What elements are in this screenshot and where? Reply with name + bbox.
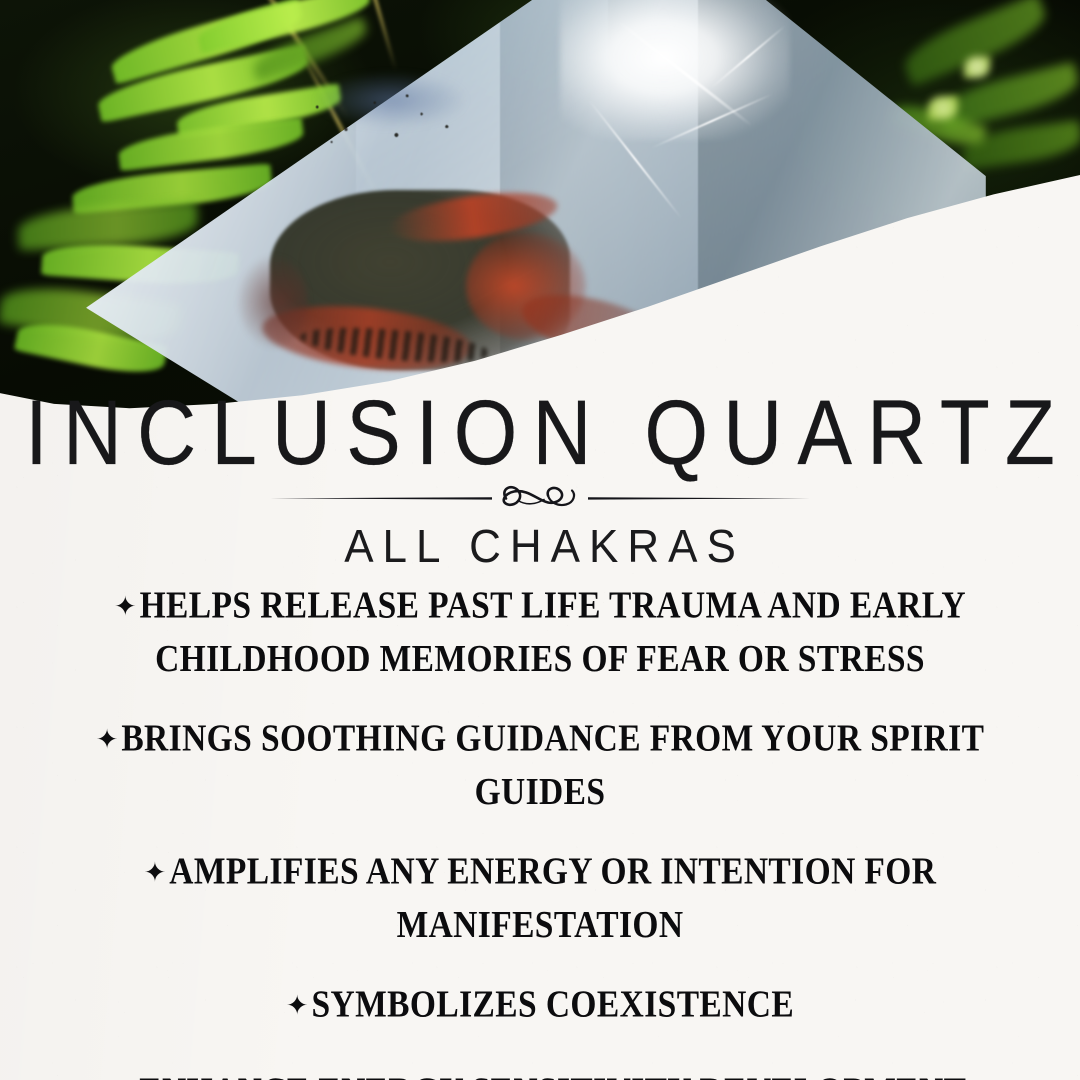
sparkle-bullet-icon: ✦ xyxy=(114,1070,140,1080)
sparkle-bullet-icon: ✦ xyxy=(96,717,122,763)
property-list: ✦HELPS RELEASE PAST LIFE TRAUMA AND EARL… xyxy=(60,580,1020,1080)
sparkle-bullet-icon: ✦ xyxy=(144,850,170,896)
list-item-label: SYMBOLIZES COEXISTENCE xyxy=(312,984,795,1026)
flourish-icon xyxy=(260,478,820,518)
page-title: INCLUSION QUARTZ xyxy=(0,388,1080,480)
list-item: ✦SYMBOLIZES COEXISTENCE xyxy=(60,979,1020,1033)
chakra-subtitle: ALL CHAKRAS xyxy=(0,524,1080,571)
list-item-label: ENHANCE ENERGY SENSITIVITY DEVELOPMENT xyxy=(139,1071,966,1080)
list-item-label: AMPLIFIES ANY ENERGY OR INTENTION FOR MA… xyxy=(169,851,936,947)
crystal-info-card: INCLUSION QUARTZ ALL CHAKRAS ✦HELPS RELE… xyxy=(0,0,1080,1080)
card-content: INCLUSION QUARTZ ALL CHAKRAS ✦HELPS RELE… xyxy=(0,0,1080,1080)
list-item: ✦BRINGS SOOTHING GUIDANCE FROM YOUR SPIR… xyxy=(60,713,1020,819)
ornamental-divider xyxy=(0,476,1080,520)
sparkle-bullet-icon: ✦ xyxy=(286,983,312,1029)
sparkle-bullet-icon: ✦ xyxy=(114,584,140,630)
list-item: ✦HELPS RELEASE PAST LIFE TRAUMA AND EARL… xyxy=(60,580,1020,686)
list-item-label: BRINGS SOOTHING GUIDANCE FROM YOUR SPIRI… xyxy=(121,718,984,814)
list-item: ✦AMPLIFIES ANY ENERGY OR INTENTION FOR M… xyxy=(60,846,1020,952)
list-item: ✦ENHANCE ENERGY SENSITIVITY DEVELOPMENT xyxy=(60,1066,1020,1080)
list-item-label: HELPS RELEASE PAST LIFE TRAUMA AND EARLY… xyxy=(140,585,966,681)
